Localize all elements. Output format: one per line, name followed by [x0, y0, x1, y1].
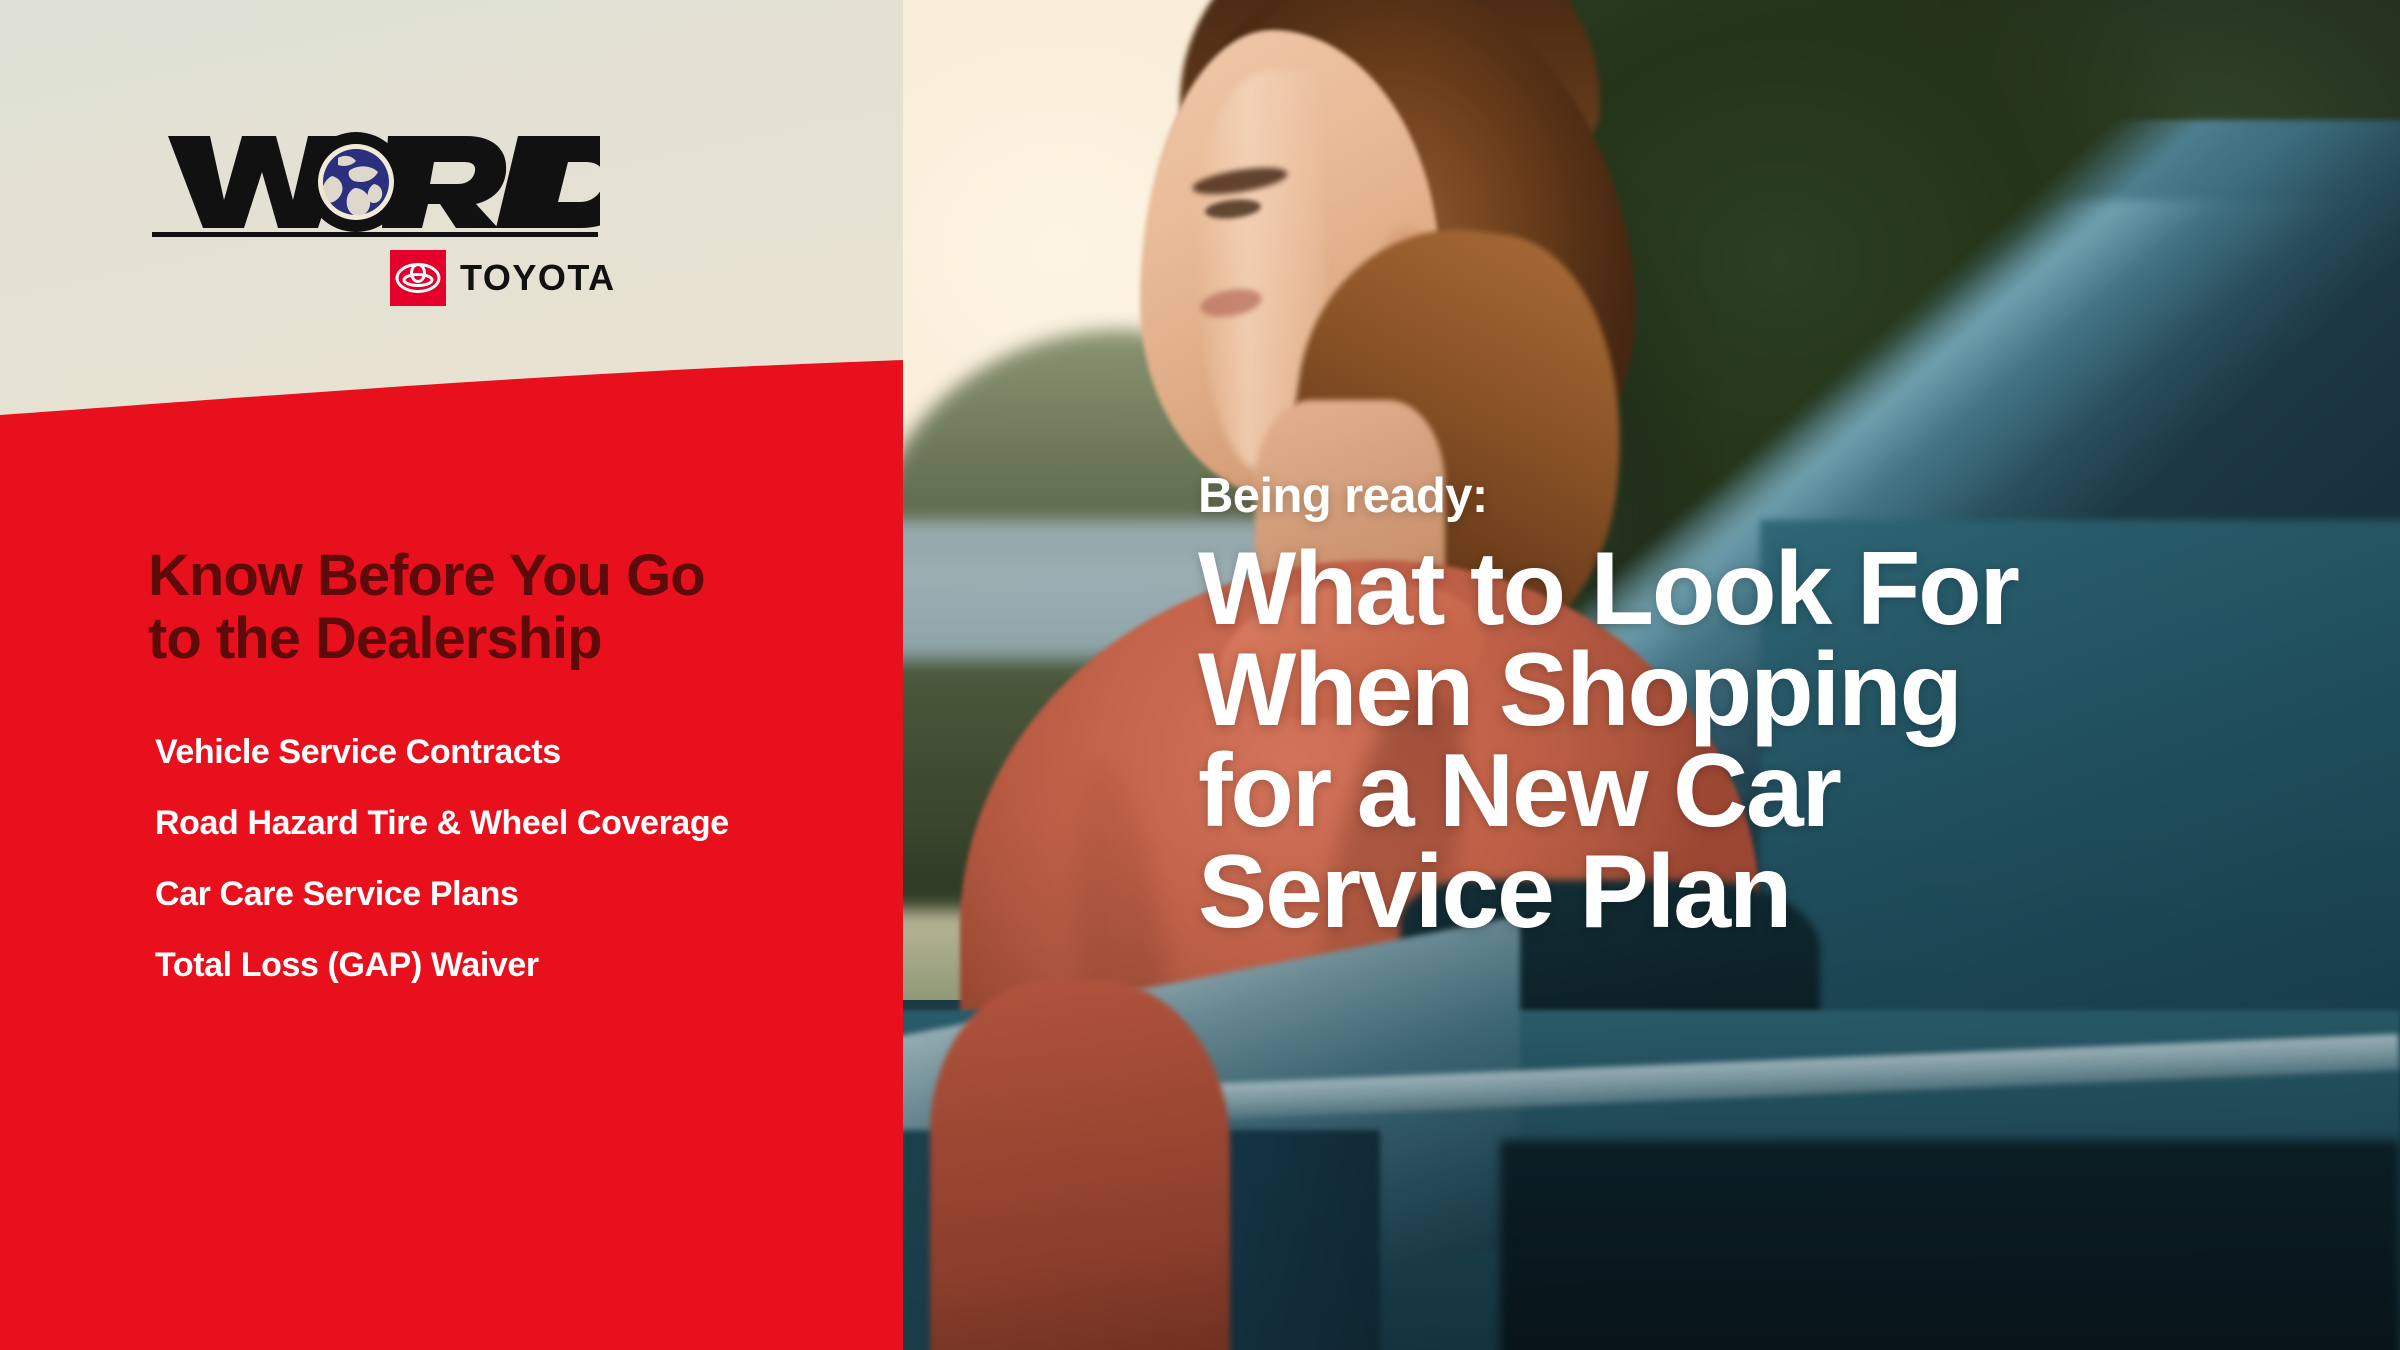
hero-headline-block: Being ready: What to Look For When Shopp…: [1198, 472, 2308, 943]
world-wordmark: [150, 128, 600, 236]
panel-heading: Know Before You Go to the Dealership: [148, 545, 838, 670]
logo-underline-rule: [152, 232, 598, 237]
headline-eyebrow: Being ready:: [1198, 472, 2308, 521]
headline-line-4: Service Plan: [1198, 842, 2308, 943]
world-toyota-logo: TOYOTA: [150, 128, 600, 303]
marketing-slide: TOYOTA Know Before You Go to the Dealers…: [0, 0, 2400, 1350]
list-item: Vehicle Service Contracts: [155, 735, 875, 769]
list-item: Road Hazard Tire & Wheel Coverage: [155, 806, 875, 840]
headline-line-3: for a New Car: [1198, 741, 2308, 842]
toyota-badge: TOYOTA: [390, 250, 616, 306]
list-item: Car Care Service Plans: [155, 877, 875, 911]
panel-heading-line-2: to the Dealership: [148, 608, 838, 671]
photo-woman-arm: [930, 980, 1230, 1350]
headline-line-1: What to Look For: [1198, 539, 2308, 640]
headline-main: What to Look For When Shopping for a New…: [1198, 539, 2308, 943]
red-panel-content: Know Before You Go to the Dealership Veh…: [0, 360, 903, 1350]
coverage-list: Vehicle Service Contracts Road Hazard Ti…: [155, 735, 875, 1019]
list-item: Total Loss (GAP) Waiver: [155, 948, 875, 982]
photo-car-shadow: [1500, 1140, 2400, 1350]
toyota-wordmark: TOYOTA: [460, 260, 616, 296]
panel-heading-line-1: Know Before You Go: [148, 545, 838, 608]
toyota-ellipse-icon: [390, 250, 446, 306]
headline-line-2: When Shopping: [1198, 640, 2308, 741]
